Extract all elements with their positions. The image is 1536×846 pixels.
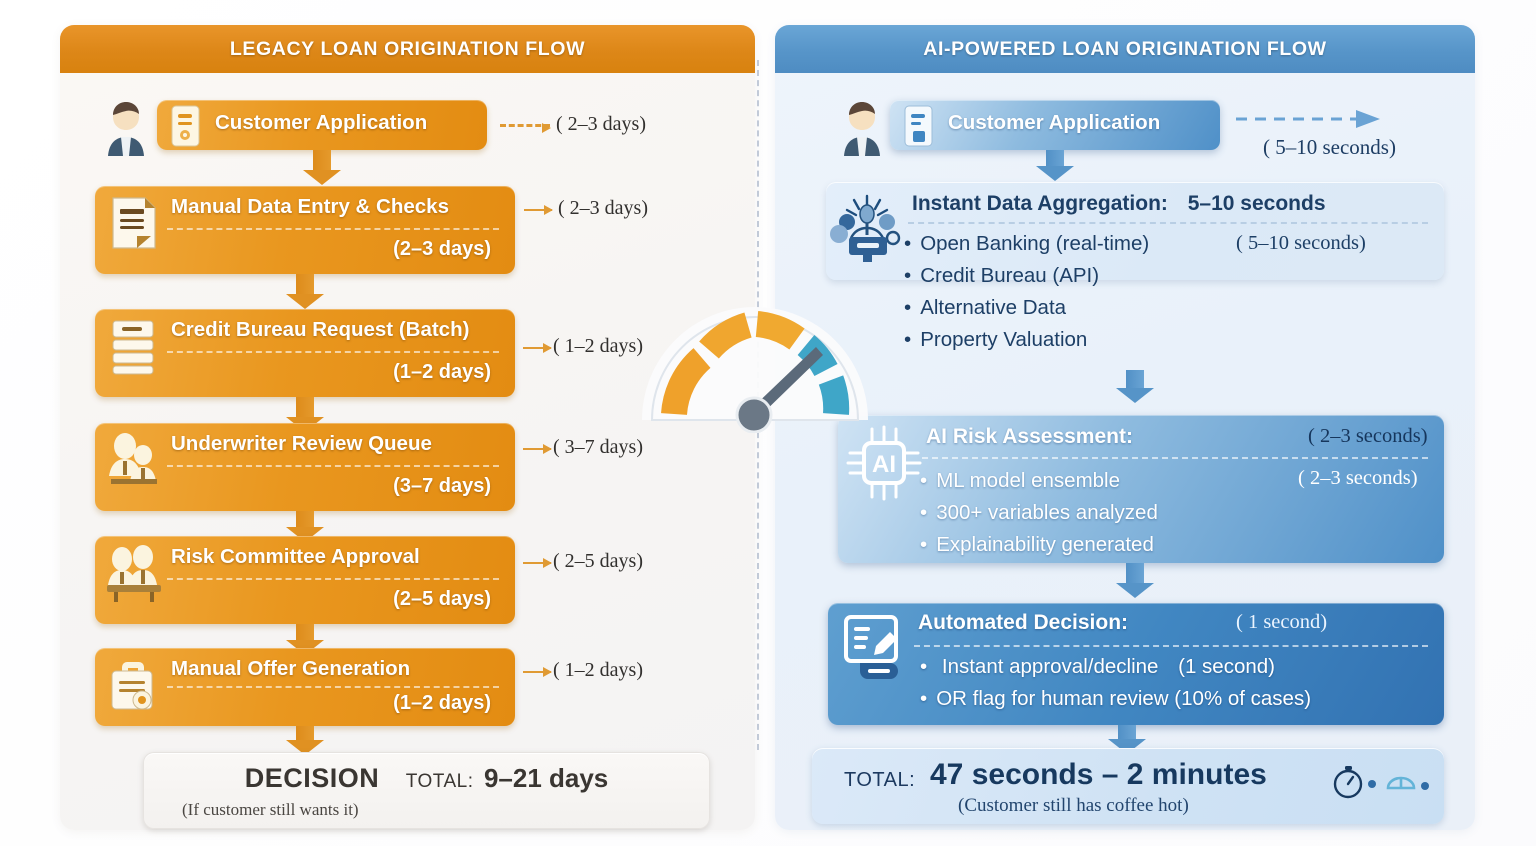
legacy-step-separator bbox=[167, 465, 499, 467]
ai-note-3: ( 2–3 seconds) bbox=[1308, 425, 1428, 448]
stacked-files-icon bbox=[103, 315, 165, 377]
ai-connector-3 bbox=[1126, 563, 1144, 585]
legacy-step-risk-committee[interactable]: Risk Committee Approval (2–5 days) bbox=[95, 536, 515, 624]
legacy-connector-2 bbox=[296, 274, 314, 296]
list-item: Alternative Data bbox=[904, 292, 1149, 324]
decision-total-value: 9–21 days bbox=[484, 763, 608, 793]
ai-step-bullets: Instant approval/decline (1 second) OR f… bbox=[920, 651, 1311, 715]
ai-step-title: Instant Data Aggregation: 5–10 seconds bbox=[912, 192, 1326, 216]
legacy-step-title: Underwriter Review Queue bbox=[171, 432, 501, 456]
ai-total-subtitle: (Customer still has coffee hot) bbox=[958, 795, 1189, 817]
data-hub-icon bbox=[830, 188, 904, 262]
legacy-arrow-4 bbox=[523, 448, 551, 450]
list-item: 300+ variables analyzed bbox=[920, 497, 1158, 529]
legacy-note-1: ( 2–3 days) bbox=[556, 113, 646, 136]
legacy-step-duration: (3–7 days) bbox=[393, 475, 491, 498]
legacy-step-title: Risk Committee Approval bbox=[171, 545, 501, 569]
list-item: Credit Bureau (API) bbox=[904, 260, 1149, 292]
ai-arrow-1 bbox=[1236, 108, 1382, 130]
ai-step-title: AI Risk Assessment: bbox=[926, 425, 1133, 449]
person-avatar-icon bbox=[832, 96, 892, 158]
list-item: Open Banking (real-time) bbox=[904, 228, 1149, 260]
person-avatar-icon bbox=[96, 96, 156, 158]
ai-note-1: ( 5–10 seconds) bbox=[1263, 135, 1396, 160]
decision-headline: DECISION TOTAL: 9–21 days bbox=[144, 763, 709, 794]
ai-bullet-note-3: ( 2–3 seconds) bbox=[1298, 467, 1418, 490]
legacy-decision-summary: DECISION TOTAL: 9–21 days (If customer s… bbox=[143, 752, 710, 829]
legacy-step-title: Credit Bureau Request (Batch) bbox=[171, 318, 501, 342]
legacy-arrow-5 bbox=[523, 562, 551, 564]
stopwatch-icon bbox=[1335, 766, 1361, 797]
decision-subtitle: (If customer still wants it) bbox=[182, 800, 359, 820]
legacy-note-4: ( 3–7 days) bbox=[553, 436, 643, 459]
ai-step-instant-data-aggregation[interactable]: Instant Data Aggregation: 5–10 seconds O… bbox=[826, 182, 1444, 280]
committee-icon bbox=[103, 542, 165, 604]
legacy-arrow-2 bbox=[524, 209, 552, 211]
speed-icons bbox=[1330, 762, 1440, 807]
legacy-connector-arrow-1 bbox=[303, 170, 341, 185]
ai-note-4: ( 1 second) bbox=[1236, 611, 1327, 634]
underwriters-icon bbox=[103, 429, 165, 491]
legacy-step-duration: (2–5 days) bbox=[393, 588, 491, 611]
legacy-arrow-3 bbox=[523, 347, 551, 349]
ai-connector-arrow-1 bbox=[1036, 166, 1074, 181]
speed-arc-icon bbox=[1388, 778, 1414, 788]
ai-step-title: Customer Application bbox=[948, 111, 1160, 135]
list-item-text: Instant approval/decline bbox=[942, 655, 1159, 678]
legacy-step-duration: (1–2 days) bbox=[393, 692, 491, 715]
ai-step-title: Automated Decision: bbox=[918, 611, 1128, 635]
document-icon bbox=[103, 192, 165, 254]
ai-connector-2 bbox=[1126, 370, 1144, 390]
list-item: ML model ensemble bbox=[920, 465, 1158, 497]
speed-comparison-gauge bbox=[630, 288, 880, 433]
legacy-arrow-6 bbox=[523, 671, 551, 673]
legacy-step-credit-bureau[interactable]: Credit Bureau Request (Batch) (1–2 days) bbox=[95, 309, 515, 397]
legacy-step-duration: (1–2 days) bbox=[393, 361, 491, 384]
ai-step-separator bbox=[908, 222, 1428, 224]
svg-text:AI: AI bbox=[872, 451, 896, 478]
legacy-step-customer-application[interactable]: Customer Application bbox=[157, 100, 487, 150]
legacy-panel-title: LEGACY LOAN ORIGINATION FLOW bbox=[60, 25, 755, 73]
legacy-connector-arrow-2 bbox=[286, 294, 324, 309]
legacy-arrow-1 bbox=[500, 124, 550, 127]
decision-word: DECISION bbox=[245, 763, 380, 793]
legacy-note-5: ( 2–5 days) bbox=[553, 550, 643, 573]
legacy-step-separator bbox=[167, 578, 499, 580]
legacy-step-duration: (2–3 days) bbox=[393, 238, 491, 261]
legacy-connector-3 bbox=[296, 397, 314, 419]
legacy-step-separator bbox=[167, 686, 499, 688]
signed-document-icon bbox=[838, 611, 912, 685]
legacy-step-title: Manual Offer Generation bbox=[171, 657, 501, 681]
offer-folder-icon bbox=[103, 654, 165, 716]
decision-total-label: TOTAL: bbox=[406, 771, 474, 792]
ai-connector-arrow-3 bbox=[1116, 583, 1154, 598]
document-card-icon bbox=[896, 103, 942, 149]
legacy-step-manual-offer[interactable]: Manual Offer Generation (1–2 days) bbox=[95, 648, 515, 726]
document-card-icon bbox=[163, 103, 209, 149]
legacy-step-manual-data-entry[interactable]: Manual Data Entry & Checks (2–3 days) bbox=[95, 186, 515, 274]
ai-step-automated-decision[interactable]: Automated Decision: ( 1 second) Instant … bbox=[828, 603, 1444, 725]
ai-step-separator bbox=[922, 457, 1428, 459]
legacy-step-separator bbox=[167, 228, 499, 230]
ai-total-label: TOTAL: bbox=[844, 769, 915, 792]
legacy-note-6: ( 1–2 days) bbox=[553, 659, 643, 682]
list-item: Explainability generated bbox=[920, 529, 1158, 561]
list-item: OR flag for human review (10% of cases) bbox=[920, 683, 1311, 715]
legacy-step-separator bbox=[167, 351, 499, 353]
ai-chip-icon: AI bbox=[846, 425, 922, 501]
legacy-step-title: Customer Application bbox=[215, 111, 473, 135]
ai-total-value: 47 seconds – 2 minutes bbox=[930, 758, 1267, 792]
ai-step-risk-assessment[interactable]: AI AI Risk Assessment: ( 2–3 seconds) ML… bbox=[838, 415, 1444, 563]
ai-step-title-text: Instant Data Aggregation: bbox=[912, 192, 1168, 215]
infographic-canvas: LEGACY LOAN ORIGINATION FLOW Customer Ap… bbox=[0, 0, 1536, 846]
ai-total-summary: TOTAL: 47 seconds – 2 minutes (Customer … bbox=[812, 748, 1444, 824]
legacy-note-2: ( 2–3 days) bbox=[558, 197, 648, 220]
ai-step-customer-application[interactable]: Customer Application bbox=[890, 100, 1220, 150]
ai-step-title-value: 5–10 seconds bbox=[1188, 192, 1326, 215]
legacy-step-underwriter-review[interactable]: Underwriter Review Queue (3–7 days) bbox=[95, 423, 515, 511]
ai-step-separator bbox=[914, 645, 1428, 647]
list-item: Property Valuation bbox=[904, 324, 1149, 356]
legacy-step-title: Manual Data Entry & Checks bbox=[171, 195, 501, 219]
legacy-connector-1 bbox=[313, 150, 331, 172]
ai-connector-arrow-2 bbox=[1116, 388, 1154, 403]
ai-step-bullets: Open Banking (real-time) Credit Bureau (… bbox=[904, 228, 1149, 356]
ai-panel-title: AI-POWERED LOAN ORIGINATION FLOW bbox=[775, 25, 1475, 73]
list-item: Instant approval/decline (1 second) bbox=[920, 651, 1311, 683]
ai-step-bullets: ML model ensemble 300+ variables analyze… bbox=[920, 465, 1158, 561]
ai-bullet-note-4: (1 second) bbox=[1178, 655, 1275, 678]
ai-note-2: ( 5–10 seconds) bbox=[1236, 232, 1366, 255]
